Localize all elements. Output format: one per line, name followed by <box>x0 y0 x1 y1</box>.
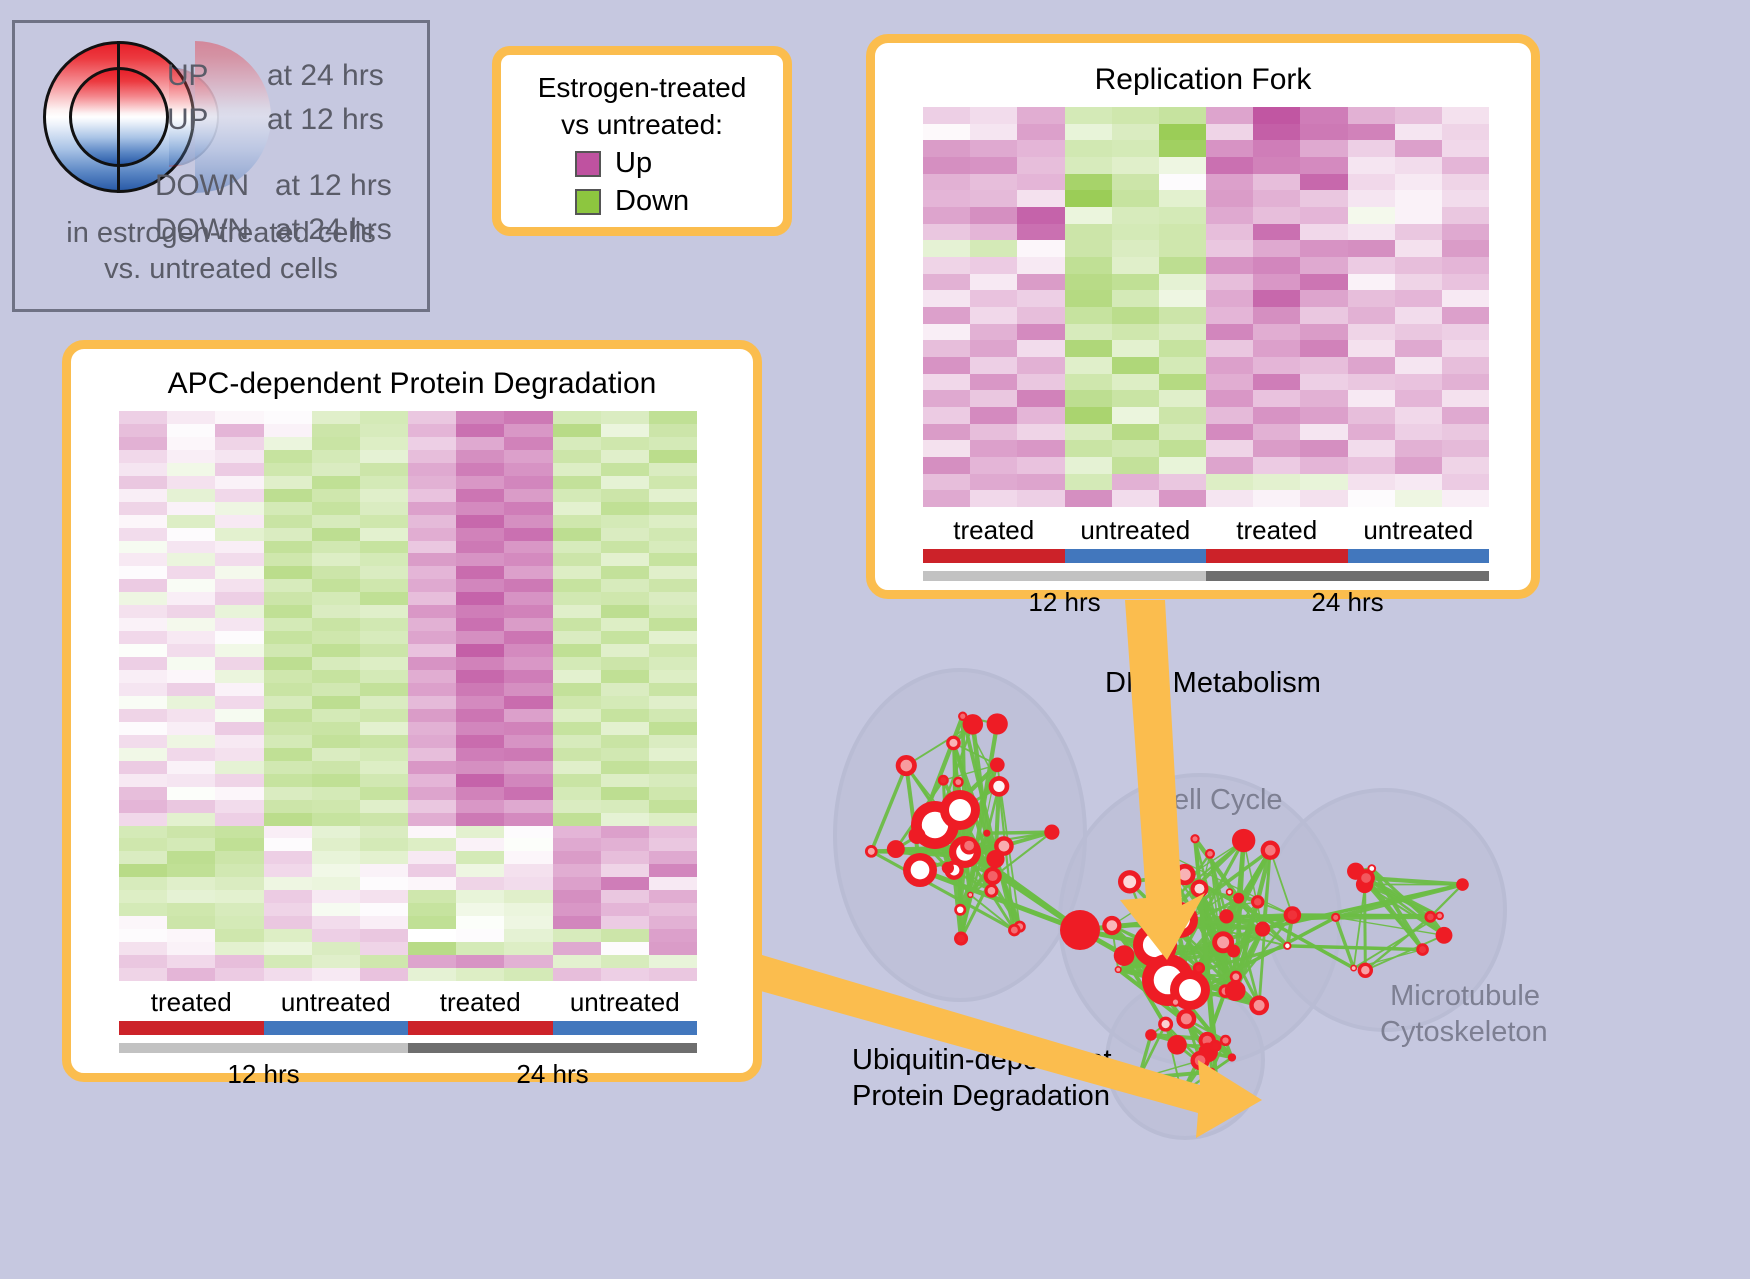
heatmap-cell <box>504 838 552 851</box>
heatmap-cell <box>1253 207 1300 224</box>
apc-cond-3: untreated <box>553 987 698 1018</box>
heatmap-cell <box>360 709 408 722</box>
heatmap-cell <box>1442 324 1489 341</box>
network-node-core <box>949 799 971 821</box>
heatmap-cell <box>264 644 312 657</box>
heatmap-cell <box>1300 340 1347 357</box>
network-node <box>1227 945 1240 958</box>
network-node-core <box>1437 913 1442 918</box>
heatmap-cell <box>1065 457 1112 474</box>
heatmap-cell <box>264 903 312 916</box>
network-node-core <box>1288 910 1298 920</box>
heatmap-cell <box>408 942 456 955</box>
heatmap-cell <box>1300 424 1347 441</box>
heatmap-cell <box>167 605 215 618</box>
heatmap-cell <box>408 644 456 657</box>
network-node <box>909 827 926 844</box>
heatmap-cell <box>1300 240 1347 257</box>
heatmap-cell <box>1348 157 1395 174</box>
heatmap-cell <box>504 437 552 450</box>
heatmap-cell <box>1112 340 1159 357</box>
heatmap-cell <box>408 605 456 618</box>
network-node-core <box>964 841 974 851</box>
heatmap-cell <box>1253 224 1300 241</box>
heatmap-cell <box>360 450 408 463</box>
network-node <box>987 713 1008 734</box>
heatmap-cell <box>1112 257 1159 274</box>
heatmap-cell <box>553 437 601 450</box>
heatmap-cell <box>456 761 504 774</box>
network-node-core <box>1232 973 1239 980</box>
heatmap-cell <box>456 968 504 981</box>
heatmap-cell <box>312 657 360 670</box>
heatmap-cell <box>264 916 312 929</box>
heatmap-cell <box>264 968 312 981</box>
heatmap-cell <box>119 683 167 696</box>
heatmap-cell <box>215 903 263 916</box>
heatmap-cell <box>1348 257 1395 274</box>
heatmap-cell <box>312 696 360 709</box>
network-node-core <box>1333 915 1338 920</box>
heatmap-cell <box>504 618 552 631</box>
apc-condition-labels: treated untreated treated untreated <box>119 987 697 1018</box>
heatmap-cell <box>456 929 504 942</box>
network-node-core <box>1011 927 1018 934</box>
heatmap-cell <box>601 592 649 605</box>
heatmap-cell <box>264 515 312 528</box>
heatmap-cell <box>119 437 167 450</box>
heatmap-cell <box>456 437 504 450</box>
network-node-core <box>868 848 875 855</box>
heatmap-cell <box>649 605 697 618</box>
heatmap-cell <box>119 631 167 644</box>
legend-time-up-24: at 24 hrs <box>267 59 384 93</box>
network-node-core <box>1137 1076 1141 1080</box>
legend-label-down-12: DOWN <box>155 169 249 203</box>
heatmap-cell <box>1065 174 1112 191</box>
heatmap-cell <box>167 851 215 864</box>
rf-condition-labels: treated untreated treated untreated <box>923 515 1489 546</box>
heatmap-cell <box>553 424 601 437</box>
heatmap-cell <box>923 140 970 157</box>
heatmap-cell <box>119 813 167 826</box>
heatmap-cell <box>601 968 649 981</box>
heatmap-cell <box>1253 140 1300 157</box>
heatmap-cell <box>408 528 456 541</box>
apc-bar-treated-24 <box>408 1021 553 1035</box>
heatmap-cell <box>923 307 970 324</box>
heatmap-cell <box>553 709 601 722</box>
heatmap-cell <box>553 916 601 929</box>
heatmap-cell <box>215 566 263 579</box>
heatmap-cell <box>553 463 601 476</box>
heatmap-cell <box>1300 124 1347 141</box>
updown-legend-caption: in estrogen-treated cells vs. untreated … <box>15 215 427 287</box>
heatmap-cell <box>167 592 215 605</box>
heatmap-cell <box>1065 374 1112 391</box>
heatmap-cell <box>1017 190 1064 207</box>
network-node-core <box>1227 890 1231 894</box>
rf-bar-untreated-24 <box>1348 549 1490 563</box>
heatmap-cell <box>1206 174 1253 191</box>
heatmap-cell <box>649 890 697 903</box>
heatmap-cell <box>360 566 408 579</box>
heatmap-cell <box>1206 157 1253 174</box>
apc-bar-untreated-24 <box>553 1021 698 1035</box>
heatmap-cell <box>215 541 263 554</box>
heatmap-cell <box>167 826 215 839</box>
heatmap-cell <box>215 929 263 942</box>
heatmap-cell <box>360 929 408 942</box>
heatmap-cell <box>1253 440 1300 457</box>
heatmap-cell <box>312 528 360 541</box>
heatmap-cell <box>456 787 504 800</box>
heatmap-cell <box>360 644 408 657</box>
heatmap-cell <box>649 709 697 722</box>
heatmap-cell <box>553 631 601 644</box>
heatmap-cell <box>1348 474 1395 491</box>
heatmap-cell <box>601 683 649 696</box>
heatmap-cell <box>1159 140 1206 157</box>
heatmap-cell <box>1112 274 1159 291</box>
heatmap-cell <box>408 579 456 592</box>
heatmap-cell <box>408 618 456 631</box>
heatmap-cell <box>264 851 312 864</box>
heatmap-cell <box>1112 157 1159 174</box>
heatmap-cell <box>1206 257 1253 274</box>
heatmap-cell <box>456 696 504 709</box>
heatmap-cell <box>1348 407 1395 424</box>
heatmap-cell <box>167 450 215 463</box>
network-node-core <box>949 739 957 747</box>
heatmap-cell <box>1253 374 1300 391</box>
heatmap-cell <box>504 877 552 890</box>
heatmap-cell <box>408 450 456 463</box>
heatmap-cell <box>1159 307 1206 324</box>
heatmap-cell <box>504 903 552 916</box>
heatmap-cell <box>1442 224 1489 241</box>
heatmap-cell <box>1017 407 1064 424</box>
heatmap-cell <box>264 670 312 683</box>
heatmap-cell <box>215 437 263 450</box>
heatmap-cell <box>119 592 167 605</box>
heatmap-cell <box>456 851 504 864</box>
heatmap-cell <box>1442 457 1489 474</box>
heatmap-cell <box>119 890 167 903</box>
heatmap-cell <box>1348 107 1395 124</box>
heatmap-cell <box>504 916 552 929</box>
legend-label-up-12: UP <box>167 103 208 137</box>
apc-time-bars <box>119 1043 697 1053</box>
legend-label-down: Down <box>615 185 689 218</box>
heatmap-cell <box>601 502 649 515</box>
heatmap-cell <box>264 411 312 424</box>
heatmap-cell <box>360 722 408 735</box>
heatmap-cell <box>215 644 263 657</box>
heatmap-cell <box>649 735 697 748</box>
heatmap-cell <box>408 955 456 968</box>
heatmap-cell <box>1300 407 1347 424</box>
legend-swatch-up <box>575 151 601 177</box>
heatmap-cell <box>923 274 970 291</box>
heatmap-cell <box>312 437 360 450</box>
heatmap-cell <box>1395 107 1442 124</box>
heatmap-cell <box>504 450 552 463</box>
heatmap-cell <box>215 605 263 618</box>
network-node-core <box>1222 1037 1228 1043</box>
heatmap-cell <box>408 748 456 761</box>
heatmap-cell <box>1206 207 1253 224</box>
heatmap-cell <box>601 813 649 826</box>
heatmap-cell <box>456 553 504 566</box>
heatmap-cell <box>601 774 649 787</box>
heatmap-cell <box>456 528 504 541</box>
heatmap-cell <box>1159 374 1206 391</box>
network-node-core <box>1123 875 1136 888</box>
heatmap-cell <box>167 683 215 696</box>
heatmap-cell <box>408 851 456 864</box>
network-node <box>1044 825 1059 840</box>
heatmap-cell <box>119 579 167 592</box>
heatmap-cell <box>1017 107 1064 124</box>
heatmap-cell <box>1253 190 1300 207</box>
network-node-core <box>988 887 996 895</box>
heatmap-cell <box>1159 224 1206 241</box>
heatmap-cell <box>1112 307 1159 324</box>
heatmap-cell <box>504 774 552 787</box>
heatmap-cell <box>1159 474 1206 491</box>
heatmap-cell <box>1348 340 1395 357</box>
network-node-core <box>957 906 964 913</box>
heatmap-cell <box>1065 407 1112 424</box>
heatmap-cell <box>1253 457 1300 474</box>
heatmap-cell <box>1206 224 1253 241</box>
heatmap-cell <box>923 107 970 124</box>
network-node-core <box>940 777 946 783</box>
network-node <box>1232 829 1255 852</box>
heatmap-cell <box>1300 140 1347 157</box>
heatmap-cell <box>649 877 697 890</box>
heatmap-cell <box>360 774 408 787</box>
apc-time-24: 24 hrs <box>408 1059 697 1090</box>
replication-fork-panel: Replication Fork treated untreated treat… <box>866 34 1540 599</box>
heatmap-cell <box>360 463 408 476</box>
network-node-core <box>1361 966 1369 974</box>
heatmap-cell <box>408 787 456 800</box>
rf-condition-bars <box>923 549 1489 563</box>
heatmap-cell <box>167 813 215 826</box>
heatmap-cell <box>504 929 552 942</box>
apc-cond-2: treated <box>408 987 553 1018</box>
heatmap-cell <box>215 631 263 644</box>
heatmap-cell <box>215 489 263 502</box>
estrogen-title-line-2: vs untreated: <box>501 106 783 143</box>
heatmap-cell <box>1300 224 1347 241</box>
heatmap-cell <box>601 916 649 929</box>
heatmap-cell <box>312 476 360 489</box>
heatmap-cell <box>167 838 215 851</box>
heatmap-cell <box>360 592 408 605</box>
heatmap-cell <box>649 787 697 800</box>
heatmap-cell <box>1253 324 1300 341</box>
heatmap-cell <box>215 424 263 437</box>
heatmap-cell <box>649 761 697 774</box>
heatmap-cell <box>312 787 360 800</box>
heatmap-cell <box>119 787 167 800</box>
heatmap-cell <box>970 357 1017 374</box>
heatmap-cell <box>649 942 697 955</box>
cluster-label-microtubule-cytoskeleton: Microtubule Cytoskeleton <box>1380 978 1540 1050</box>
heatmap-cell <box>167 528 215 541</box>
heatmap-cell <box>119 541 167 554</box>
heatmap-cell <box>167 929 215 942</box>
heatmap-cell <box>601 424 649 437</box>
heatmap-cell <box>1395 457 1442 474</box>
heatmap-cell <box>215 670 263 683</box>
heatmap-cell <box>119 450 167 463</box>
heatmap-cell <box>119 553 167 566</box>
heatmap-cell <box>649 838 697 851</box>
heatmap-cell <box>1442 440 1489 457</box>
heatmap-cell <box>456 735 504 748</box>
heatmap-cell <box>1017 390 1064 407</box>
heatmap-cell <box>1112 224 1159 241</box>
heatmap-cell <box>264 761 312 774</box>
heatmap-cell <box>504 813 552 826</box>
heatmap-cell <box>553 489 601 502</box>
heatmap-cell <box>504 748 552 761</box>
network-node <box>1114 945 1135 966</box>
heatmap-cell <box>970 440 1017 457</box>
heatmap-cell <box>119 515 167 528</box>
heatmap-cell <box>504 553 552 566</box>
heatmap-cell <box>1300 107 1347 124</box>
heatmap-cell <box>264 890 312 903</box>
heatmap-cell <box>601 450 649 463</box>
network-node-core <box>957 935 965 943</box>
heatmap-cell <box>456 800 504 813</box>
heatmap-cell <box>601 579 649 592</box>
heatmap-cell <box>649 450 697 463</box>
heatmap-cell <box>312 929 360 942</box>
heatmap-cell <box>649 683 697 696</box>
heatmap-cell <box>1112 190 1159 207</box>
heatmap-cell <box>119 605 167 618</box>
heatmap-cell <box>119 735 167 748</box>
heatmap-cell <box>649 955 697 968</box>
heatmap-cell <box>1300 274 1347 291</box>
heatmap-cell <box>408 890 456 903</box>
rf-bar-treated-24 <box>1206 549 1348 563</box>
heatmap-cell <box>1442 157 1489 174</box>
rf-cond-0: treated <box>923 515 1065 546</box>
heatmap-cell <box>553 787 601 800</box>
heatmap-cell <box>601 877 649 890</box>
heatmap-cell <box>970 257 1017 274</box>
heatmap-cell <box>1206 240 1253 257</box>
heatmap-cell <box>408 670 456 683</box>
heatmap-cell <box>923 440 970 457</box>
heatmap-cell <box>923 224 970 241</box>
heatmap-cell <box>1395 174 1442 191</box>
heatmap-cell <box>456 683 504 696</box>
heatmap-cell <box>1017 307 1064 324</box>
heatmap-cell <box>360 605 408 618</box>
heatmap-cell <box>1159 190 1206 207</box>
heatmap-cell <box>1112 390 1159 407</box>
heatmap-cell <box>649 813 697 826</box>
heatmap-cell <box>649 566 697 579</box>
network-node-core <box>1352 966 1356 970</box>
heatmap-cell <box>167 968 215 981</box>
heatmap-cell <box>167 476 215 489</box>
network-node <box>1155 915 1167 927</box>
heatmap-cell <box>1159 157 1206 174</box>
heatmap-cell <box>970 174 1017 191</box>
heatmap-cell <box>215 709 263 722</box>
heatmap-cell <box>264 683 312 696</box>
heatmap-cell <box>119 942 167 955</box>
heatmap-cell <box>1159 424 1206 441</box>
heatmap-cell <box>1159 240 1206 257</box>
heatmap-cell <box>1395 207 1442 224</box>
heatmap-cell <box>504 631 552 644</box>
heatmap-cell <box>1065 307 1112 324</box>
network-node-core <box>1179 869 1191 881</box>
heatmap-cell <box>408 696 456 709</box>
heatmap-cell <box>1348 490 1395 507</box>
heatmap-cell <box>1159 207 1206 224</box>
heatmap-cell <box>312 826 360 839</box>
heatmap-cell <box>1442 357 1489 374</box>
heatmap-cell <box>504 502 552 515</box>
heatmap-cell <box>1159 390 1206 407</box>
heatmap-cell <box>1253 407 1300 424</box>
heatmap-cell <box>1348 390 1395 407</box>
heatmap-cell <box>264 787 312 800</box>
heatmap-cell <box>504 826 552 839</box>
heatmap-cell <box>215 592 263 605</box>
heatmap-cell <box>504 657 552 670</box>
heatmap-cell <box>408 437 456 450</box>
heatmap-cell <box>649 437 697 450</box>
heatmap-cell <box>360 424 408 437</box>
heatmap-cell <box>1300 324 1347 341</box>
heatmap-cell <box>1159 357 1206 374</box>
network-node <box>963 714 983 734</box>
heatmap-cell <box>649 411 697 424</box>
heatmap-cell <box>360 618 408 631</box>
heatmap-cell <box>1206 474 1253 491</box>
apc-time-12: 12 hrs <box>119 1059 408 1090</box>
heatmap-cell <box>167 411 215 424</box>
heatmap-cell <box>1442 407 1489 424</box>
network-edge <box>1292 915 1439 916</box>
heatmap-cell <box>360 968 408 981</box>
heatmap-cell <box>119 864 167 877</box>
heatmap-cell <box>970 140 1017 157</box>
heatmap-cell <box>456 463 504 476</box>
heatmap-cell <box>215 683 263 696</box>
heatmap-cell <box>167 463 215 476</box>
heatmap-cell <box>456 502 504 515</box>
heatmap-cell <box>923 174 970 191</box>
heatmap-cell <box>360 851 408 864</box>
heatmap-cell <box>408 489 456 502</box>
heatmap-cell <box>970 424 1017 441</box>
heatmap-cell <box>553 541 601 554</box>
heatmap-cell <box>1159 340 1206 357</box>
